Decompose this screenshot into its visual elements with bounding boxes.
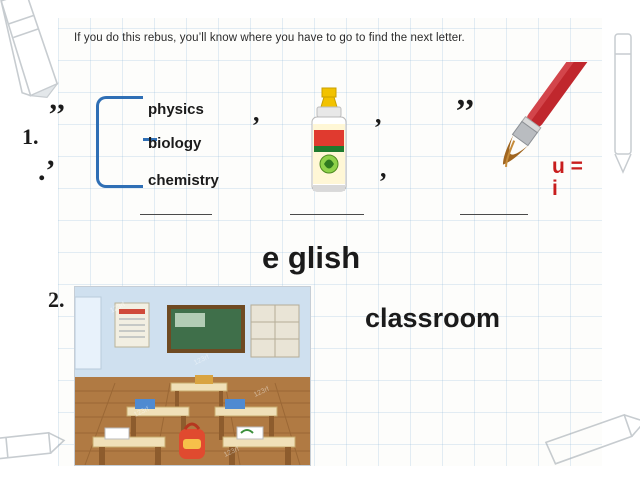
subject-biology: biology (148, 135, 201, 152)
pencil-sketch-icon (537, 395, 640, 480)
apostrophe-mark-b: .’ (38, 160, 56, 181)
apostrophe-mark-a: ’’ (48, 104, 66, 125)
page-margin-top (0, 0, 640, 18)
glue-bottle-image (300, 86, 358, 206)
hint-line-1: u = (552, 155, 583, 178)
instruction-text: If you do this rebus, you’ll know where … (74, 32, 574, 44)
blank-line-3 (460, 214, 528, 215)
item-number-2: 2. (48, 287, 65, 313)
comma-mark-c: , (253, 104, 260, 122)
apostrophe-mark-f: ’’ (455, 100, 475, 124)
subject-physics: physics (148, 101, 204, 118)
answer-english: e glish (262, 240, 360, 276)
slide-canvas: If you do this rebus, you’ll know where … (0, 0, 640, 480)
hint-line-2: i (552, 177, 558, 200)
item-number-1: 1. (22, 124, 39, 150)
comma-mark-e: , (380, 160, 387, 178)
subject-chemistry: chemistry (148, 172, 219, 189)
pencil-sketch-icon (0, 0, 92, 111)
answer-classroom: classroom (365, 303, 575, 334)
subject-group-bracket (96, 96, 143, 188)
blank-line-2 (290, 214, 364, 215)
letter-substitution-hint: u = i (552, 156, 622, 200)
pencil-sketch-icon (0, 387, 81, 480)
blank-line-1 (140, 214, 212, 215)
comma-mark-d: , (375, 106, 382, 124)
classroom-photo-image: 123rf 123rf 123rf 123rf 123rf (74, 286, 311, 466)
